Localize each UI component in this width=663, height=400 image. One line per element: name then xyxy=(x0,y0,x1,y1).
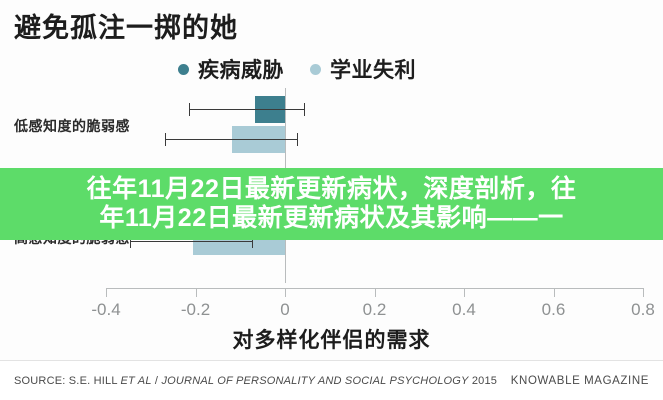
chart-title: 避免孤注一掷的她 xyxy=(14,6,238,45)
error-bar-cap xyxy=(297,133,298,146)
x-axis-tick xyxy=(464,288,465,297)
x-axis-tick xyxy=(643,288,644,297)
source-italic-etal: ET AL xyxy=(121,375,152,387)
chart-root: 避免孤注一掷的她 疾病威胁 学业失利 低感知度的脆弱感 高感知度的脆弱感 -0.… xyxy=(0,0,663,400)
chart-footer: SOURCE: S.E. HILL ET AL / JOURNAL OF PER… xyxy=(0,360,663,400)
legend-swatch-icon xyxy=(310,64,321,75)
source-prefix: SOURCE: S.E. HILL xyxy=(14,375,121,387)
chart-legend: 疾病威胁 学业失利 xyxy=(178,54,416,84)
legend-item-0[interactable]: 疾病威胁 xyxy=(178,54,284,84)
category-label-low: 低感知度的脆弱感 xyxy=(14,116,130,136)
source-italic-journal: JOURNAL OF PERSONALITY AND SOCIAL PSYCHO… xyxy=(161,375,468,387)
publisher-brand: KNOWABLE MAGAZINE xyxy=(511,375,649,387)
legend-item-1[interactable]: 学业失利 xyxy=(310,54,416,84)
x-axis-tick-label: -0.4 xyxy=(91,300,120,320)
x-axis-tick-label: 0.4 xyxy=(452,300,476,320)
promo-overlay-banner: 往年11月22日最新更新病状，深度剖析，往 年11月22日最新更新病状及其影响—… xyxy=(0,168,663,240)
x-axis-tick-label: 0 xyxy=(280,300,289,320)
legend-swatch-icon xyxy=(178,64,189,75)
error-bar-cap xyxy=(304,103,305,116)
promo-overlay-text: 往年11月22日最新更新病状，深度剖析，往 年11月22日最新更新病状及其影响—… xyxy=(8,175,655,234)
x-axis-tick xyxy=(106,288,107,297)
error-bar xyxy=(130,241,252,242)
error-bar-cap xyxy=(165,133,166,146)
x-axis-tick xyxy=(554,288,555,297)
x-axis-tick-label: 0.2 xyxy=(363,300,387,320)
x-axis-tick xyxy=(196,288,197,297)
source-year: 2015 xyxy=(469,375,498,387)
promo-overlay-line-1: 往年11月22日最新更新病状，深度剖析，往 xyxy=(8,175,655,205)
legend-item-label: 疾病威胁 xyxy=(198,54,284,84)
error-bar xyxy=(165,139,297,140)
x-axis-tick-label: 0.6 xyxy=(542,300,566,320)
promo-overlay-line-2: 年11月22日最新更新病状及其影响——一 xyxy=(8,204,655,234)
error-bar-cap xyxy=(189,103,190,116)
x-axis-tick-label: -0.2 xyxy=(181,300,210,320)
x-axis: -0.4-0.200.20.40.60.8 对多样化伴侣的需求 xyxy=(0,288,663,348)
error-bar xyxy=(189,109,304,110)
legend-item-label: 学业失利 xyxy=(330,54,416,84)
source-mid: / xyxy=(152,375,162,387)
x-axis-tick-label: 0.8 xyxy=(631,300,655,320)
x-axis-title: 对多样化伴侣的需求 xyxy=(0,324,663,354)
x-axis-tick xyxy=(285,288,286,297)
source-credit: SOURCE: S.E. HILL ET AL / JOURNAL OF PER… xyxy=(14,375,497,387)
x-axis-tick xyxy=(375,288,376,297)
